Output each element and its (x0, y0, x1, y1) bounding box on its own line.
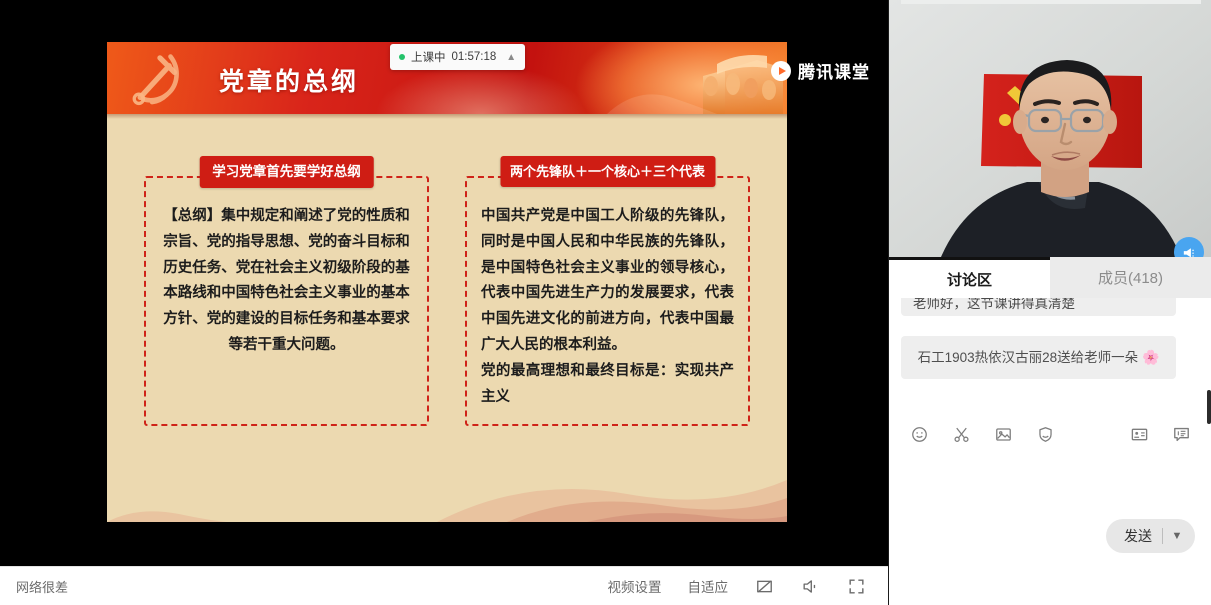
chevron-down-icon[interactable]: ▼ (1163, 530, 1191, 542)
send-button-group: 发送 ▼ (1106, 519, 1195, 553)
resolution-button[interactable]: 自适应 (688, 576, 729, 596)
live-timer: 01:57:18 (452, 51, 497, 63)
chevron-up-icon[interactable]: ▲ (506, 52, 516, 63)
network-status-label: 网络很差 (16, 577, 68, 596)
slide-body: 学习党章首先要学好总纲 【总纲】集中规定和阐述了党的性质和宗旨、党的指导思想、党… (107, 114, 787, 522)
monument-relief-graphic (607, 42, 787, 114)
chat-message-bubble[interactable]: 石工1903热依汉古丽28送给老师一朵 🌸 (901, 336, 1176, 379)
panel-tabs: 讨论区 成员(418) (889, 257, 1211, 298)
name-card-icon[interactable] (1129, 424, 1149, 444)
brand-watermark: 腾讯课堂 (771, 58, 870, 83)
video-settings-button[interactable]: 视频设置 (608, 576, 662, 596)
play-logo-icon (771, 61, 791, 81)
side-panel: 讨论区 成员(418) 老师好，这节课讲得真清楚 石工1903热依汉古丽28送给… (888, 0, 1211, 605)
send-label: 发送 (1124, 526, 1162, 546)
live-dot-icon (399, 54, 405, 60)
teacher-video-image (889, 0, 1211, 257)
slide-title: 党章的总纲 (219, 62, 359, 98)
player-control-group: 视频设置 自适应 (608, 576, 867, 596)
chat-toolbar (889, 413, 1211, 455)
tencent-classroom-window: 党章的总纲 学习党章首先要学 (0, 0, 1211, 605)
card-badge-right: 两个先锋队＋一个核心＋三个代表 (500, 156, 715, 187)
chat-input-area: 发送 ▼ (889, 455, 1211, 565)
chat-message-text: 老师好，这节课讲得真清楚 (901, 298, 1176, 316)
video-stage: 党章的总纲 学习党章首先要学 (0, 0, 888, 605)
card-paragraph: 【总纲】集中规定和阐述了党的性质和宗旨、党的指导思想、党的奋斗目标和历史任务、党… (160, 204, 413, 359)
live-status-badge[interactable]: 上课中 01:57:18 ▲ (390, 44, 525, 70)
chat-input[interactable] (889, 455, 1211, 525)
teacher-only-icon[interactable] (1171, 424, 1191, 444)
camera-off-icon[interactable] (754, 576, 774, 596)
send-button[interactable]: 发送 ▼ (1106, 519, 1195, 553)
tab-members[interactable]: 成员(418) (1050, 257, 1211, 298)
card-badge-left: 学习党章首先要学好总纲 (199, 156, 374, 188)
slide-display-area[interactable]: 党章的总纲 学习党章首先要学 (0, 0, 888, 566)
slide-card-right: 两个先锋队＋一个核心＋三个代表 中国共产党是中国工人阶级的先锋队，同时是中国人民… (465, 176, 750, 426)
chat-message-list[interactable]: 老师好，这节课讲得真清楚 石工1903热依汉古丽28送给老师一朵 🌸 (889, 298, 1211, 413)
card-paragraph: 中国共产党是中国工人阶级的先锋队，同时是中国人民和中华民族的先锋队，是中国特色社… (481, 204, 734, 359)
volume-icon[interactable] (800, 576, 820, 596)
slide-card-group: 学习党章首先要学好总纲 【总纲】集中规定和阐述了党的性质和宗旨、党的指导思想、党… (107, 114, 787, 426)
card-paragraph-secondary: 党的最高理想和最终目标是：实现共产主义 (481, 359, 734, 411)
live-status-label: 上课中 (411, 49, 446, 65)
brand-name: 腾讯课堂 (798, 58, 870, 83)
fullscreen-icon[interactable] (846, 576, 866, 596)
flower-emoji-icon: 🌸 (1142, 349, 1159, 365)
player-control-bar: 网络很差 视频设置 自适应 (0, 566, 888, 605)
scissors-icon[interactable] (951, 424, 971, 444)
card-body-right: 中国共产党是中国工人阶级的先锋队，同时是中国人民和中华民族的先锋队，是中国特色社… (481, 204, 734, 410)
card-body-left: 【总纲】集中规定和阐述了党的性质和宗旨、党的指导思想、党的奋斗目标和历史任务、党… (160, 204, 413, 359)
teacher-video-feed[interactable] (889, 0, 1211, 257)
presentation-slide: 党章的总纲 学习党章首先要学 (107, 42, 787, 522)
chat-message-clipped: 老师好，这节课讲得真清楚 (901, 298, 1176, 316)
tab-discussion[interactable]: 讨论区 (889, 257, 1050, 298)
slide-card-left: 学习党章首先要学好总纲 【总纲】集中规定和阐述了党的性质和宗旨、党的指导思想、党… (144, 176, 429, 426)
slide-wave-decoration (107, 436, 787, 522)
emoji-icon[interactable] (909, 424, 929, 444)
image-icon[interactable] (993, 424, 1013, 444)
panel-scrollbar[interactable] (1207, 390, 1211, 424)
shield-icon[interactable] (1035, 424, 1055, 444)
chat-message-text: 石工1903热依汉古丽28送给老师一朵 (918, 350, 1139, 365)
hammer-sickle-emblem-icon (123, 46, 189, 112)
